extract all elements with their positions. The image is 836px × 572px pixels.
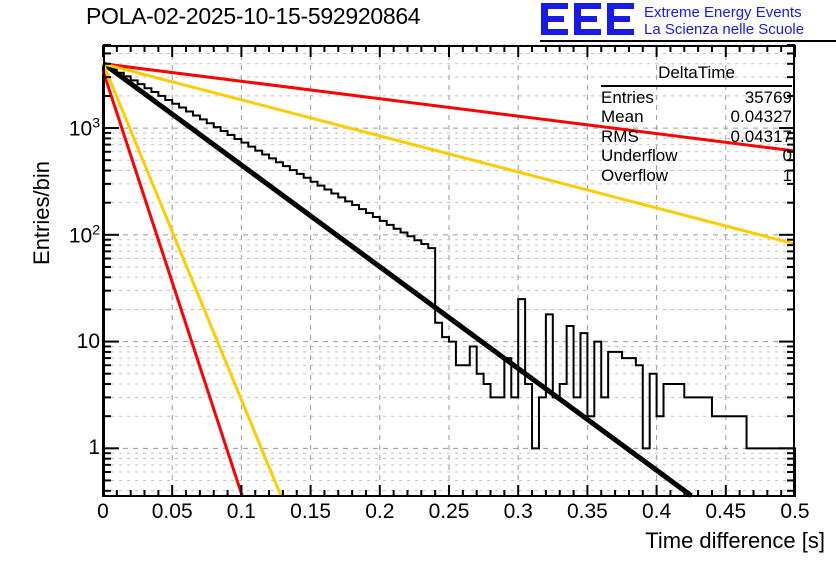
page-title: POLA-02-2025-10-15-592920864 bbox=[86, 3, 546, 30]
stats-row: Mean0.04327 bbox=[601, 107, 792, 127]
stats-row-value: 0.04327 bbox=[731, 107, 792, 127]
x-tick-label: 0.1 bbox=[227, 500, 256, 524]
stats-row-label: RMS bbox=[601, 127, 639, 147]
stats-row-label: Overflow bbox=[601, 166, 668, 186]
stats-row-value: 0.04317 bbox=[731, 127, 792, 147]
x-tick-label: 0.25 bbox=[429, 500, 470, 524]
eee-logo-text: Extreme Energy Events La Scienza nelle S… bbox=[644, 4, 804, 38]
x-tick-label: 0 bbox=[97, 500, 109, 524]
stats-row-label: Underflow bbox=[601, 146, 678, 166]
stats-row-label: Mean bbox=[601, 107, 644, 127]
y-tick-label: 10 bbox=[0, 330, 100, 354]
eee-logo-line2: La Scienza nelle Scuole bbox=[644, 21, 804, 38]
x-tick-label: 0.3 bbox=[504, 500, 533, 524]
x-tick-label: 0.35 bbox=[567, 500, 608, 524]
stats-row: Entries35769 bbox=[601, 88, 792, 108]
eee-logo: Extreme Energy Events La Scienza nelle S… bbox=[540, 2, 836, 42]
x-tick-label: 0.4 bbox=[642, 500, 671, 524]
stats-row: Underflow0 bbox=[601, 146, 792, 166]
x-axis-title: Time difference [s] bbox=[555, 528, 825, 554]
x-tick-label: 0.45 bbox=[705, 500, 746, 524]
stats-title: DeltaTime bbox=[601, 63, 792, 84]
stats-row-value: 0 bbox=[783, 146, 792, 166]
y-tick-label: 1 bbox=[0, 436, 100, 460]
stats-row-label: Entries bbox=[601, 88, 654, 108]
stats-divider bbox=[601, 85, 792, 87]
y-tick-label: 103 bbox=[0, 115, 100, 142]
stats-rows: Entries35769Mean0.04327RMS0.04317Underfl… bbox=[601, 88, 792, 186]
y-tick-label: 102 bbox=[0, 221, 100, 248]
eee-logo-line1: Extreme Energy Events bbox=[644, 4, 804, 21]
x-tick-label: 0.05 bbox=[152, 500, 193, 524]
stats-row: Overflow1 bbox=[601, 166, 792, 186]
stats-row-value: 35769 bbox=[745, 88, 792, 108]
eee-logo-mark bbox=[540, 2, 638, 36]
x-tick-label: 0.2 bbox=[365, 500, 394, 524]
stats-row: RMS0.04317 bbox=[601, 127, 792, 147]
header-divider bbox=[540, 40, 836, 42]
x-tick-label: 0.5 bbox=[780, 500, 809, 524]
x-tick-label: 0.15 bbox=[290, 500, 331, 524]
stats-box: DeltaTime Entries35769Mean0.04327RMS0.04… bbox=[601, 63, 792, 185]
stats-row-value: 1 bbox=[783, 166, 792, 186]
